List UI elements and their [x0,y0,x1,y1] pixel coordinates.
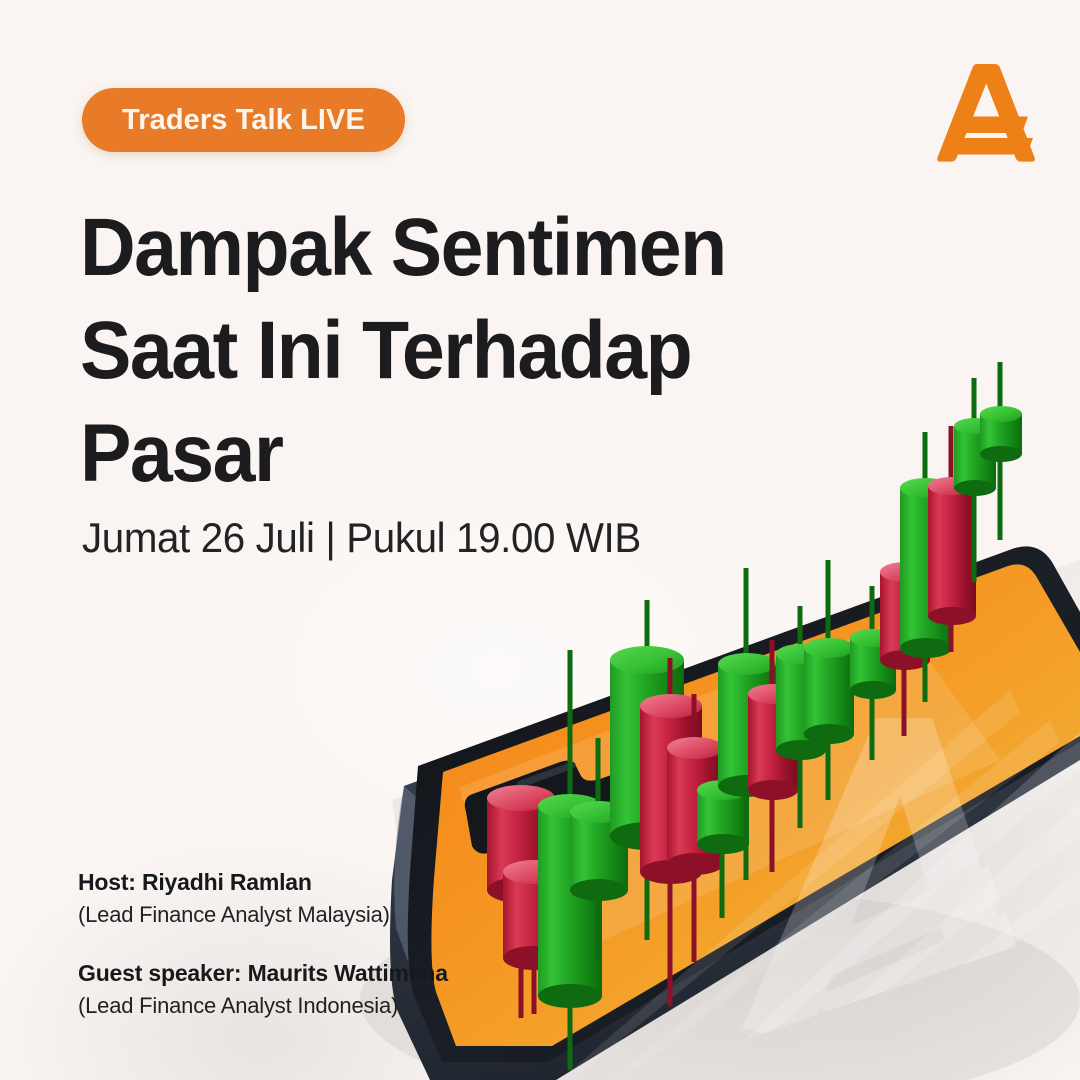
host-credit: Host: Riyadhi Ramlan (Lead Finance Analy… [78,866,448,931]
title-line-3: Pasar [80,402,794,505]
candle-bearish [667,694,723,962]
title-line-2: Saat Ini Terhadap [80,299,794,402]
candle-bullish [697,742,749,918]
ascendancy-a-logo-icon [934,58,1038,166]
screen-stripes [560,640,1080,1080]
phone-side-button [452,896,501,922]
candle-bullish [538,650,602,1070]
phone-ground-shadow [360,560,1080,1080]
candle-bearish [748,640,798,872]
live-badge-label: Traders Talk LIVE [122,104,365,137]
candle-bullish [570,738,628,962]
phone-bezel [408,546,1080,1062]
candle-bullish [954,378,996,582]
credits-block: Host: Riyadhi Ramlan (Lead Finance Analy… [78,866,448,1022]
schedule-text: Jumat 26 Juli | Pukul 19.00 WIB [82,512,641,564]
candle-bullish [718,568,776,880]
phone-speaker-slit [516,761,577,789]
candle-bullish [850,586,896,760]
screen-a-watermark [742,718,1018,1044]
candle-bullish [610,600,684,940]
candle-bullish [804,560,854,800]
candle-bearish [880,514,930,736]
guest-role: (Lead Finance Analyst Indonesia) [78,990,448,1022]
page-title: Dampak Sentimen Saat Ini Terhadap Pasar [80,196,840,505]
brand-logo [934,58,1038,166]
live-badge: Traders Talk LIVE [82,88,405,152]
host-name: Host: Riyadhi Ramlan [78,866,448,899]
candle-bullish [776,606,826,828]
guest-name: Guest speaker: Maurits Wattimena [78,957,448,990]
guest-credit: Guest speaker: Maurits Wattimena (Lead F… [78,957,448,1022]
poster-canvas: Traders Talk LIVE Dampak Sentimen Saat I… [0,0,1080,1080]
candle-bullish [980,362,1022,540]
candle-bearish [928,426,976,652]
title-line-1: Dampak Sentimen [80,196,794,299]
candle-bullish [900,432,952,702]
phone-notch [465,757,683,853]
phone-body [390,563,1080,1080]
candle-bearish [503,860,565,1014]
host-role: (Lead Finance Analyst Malaysia) [78,899,448,931]
candle-bearish [640,658,702,1006]
phone-screen [431,564,1080,1080]
candle-bearish [487,785,555,1018]
